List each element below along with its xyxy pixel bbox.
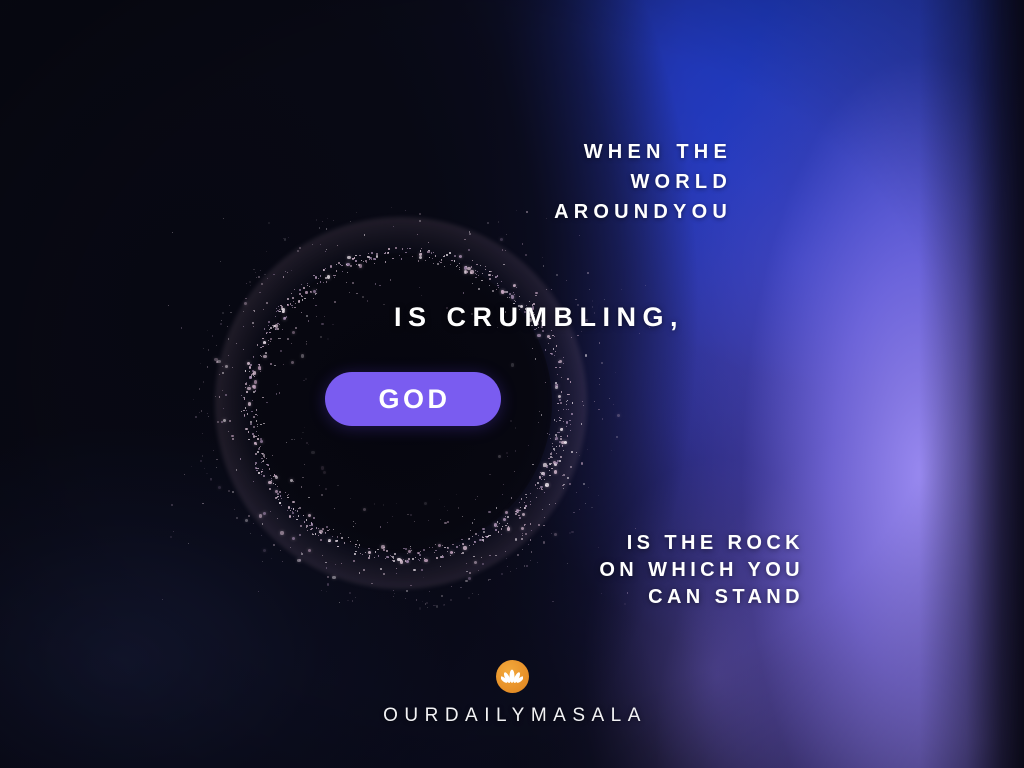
quote-top-text: WHEN THE WORLD AROUNDYOU (432, 137, 732, 227)
lotus-flower-icon (496, 660, 529, 693)
quote-top-line-3: AROUNDYOU (432, 197, 732, 227)
quote-bottom-text: IS THE ROCK ON WHICH YOU CAN STAND (500, 530, 804, 611)
quote-bottom-line-3: CAN STAND (500, 584, 804, 611)
quote-top-line-1: WHEN THE (432, 137, 732, 167)
god-pill-badge: GOD (325, 372, 501, 426)
quote-bottom-line-2: ON WHICH YOU (500, 557, 804, 584)
background-bottom-left-wash (0, 0, 1024, 768)
background-violet-glow (0, 0, 1024, 768)
quote-bottom-line-1: IS THE ROCK (500, 530, 804, 557)
footer-branding: OURDAILYMASALA (0, 660, 1024, 727)
quote-emphasis-text: IS CRUMBLING, (394, 302, 684, 332)
background-vignette (0, 0, 1024, 768)
god-pill-label: GOD (375, 386, 450, 413)
background-base (0, 0, 1024, 768)
brand-name-text: OURDAILYMASALA (377, 705, 647, 727)
quote-graphic-canvas: WHEN THE WORLD AROUNDYOU IS CRUMBLING, G… (0, 0, 1024, 768)
background-right-edge-shadow (0, 0, 1024, 768)
background-dark-silhouette (0, 0, 1024, 768)
background-blue-gradient (0, 0, 1024, 768)
quote-top-line-2: WORLD (432, 167, 732, 197)
